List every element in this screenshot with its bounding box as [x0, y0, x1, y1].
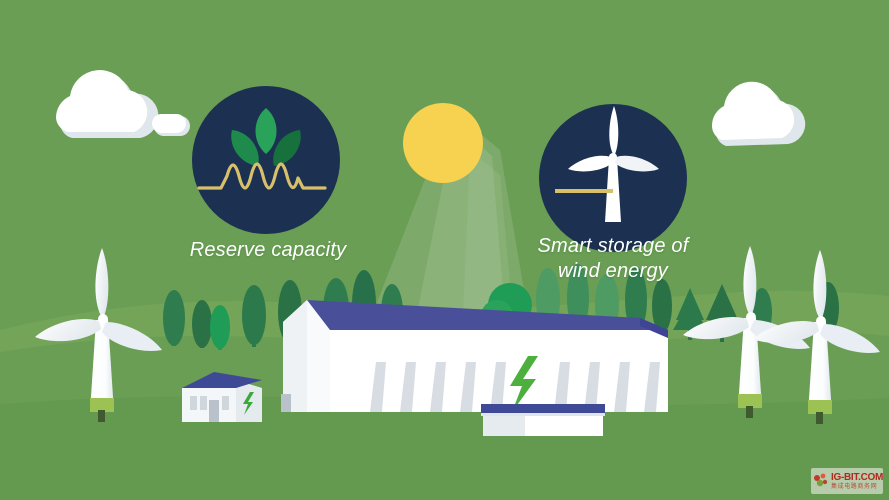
watermark-logo-icon — [813, 472, 829, 490]
watermark-text: IG-BIT.COM 集成电路商务网 — [831, 473, 883, 490]
turbines-layer — [0, 0, 889, 500]
wind-turbine-right-front[interactable] — [753, 250, 880, 424]
illustration-canvas: Reserve capacity Smart storage of wind e… — [0, 0, 889, 500]
watermark-subtitle: 集成电路商务网 — [831, 484, 883, 490]
ig-bit-watermark: IG-BIT.COM 集成电路商务网 — [811, 468, 883, 494]
wind-turbine-left[interactable] — [35, 248, 162, 422]
watermark-title: IG-BIT.COM — [831, 473, 883, 483]
